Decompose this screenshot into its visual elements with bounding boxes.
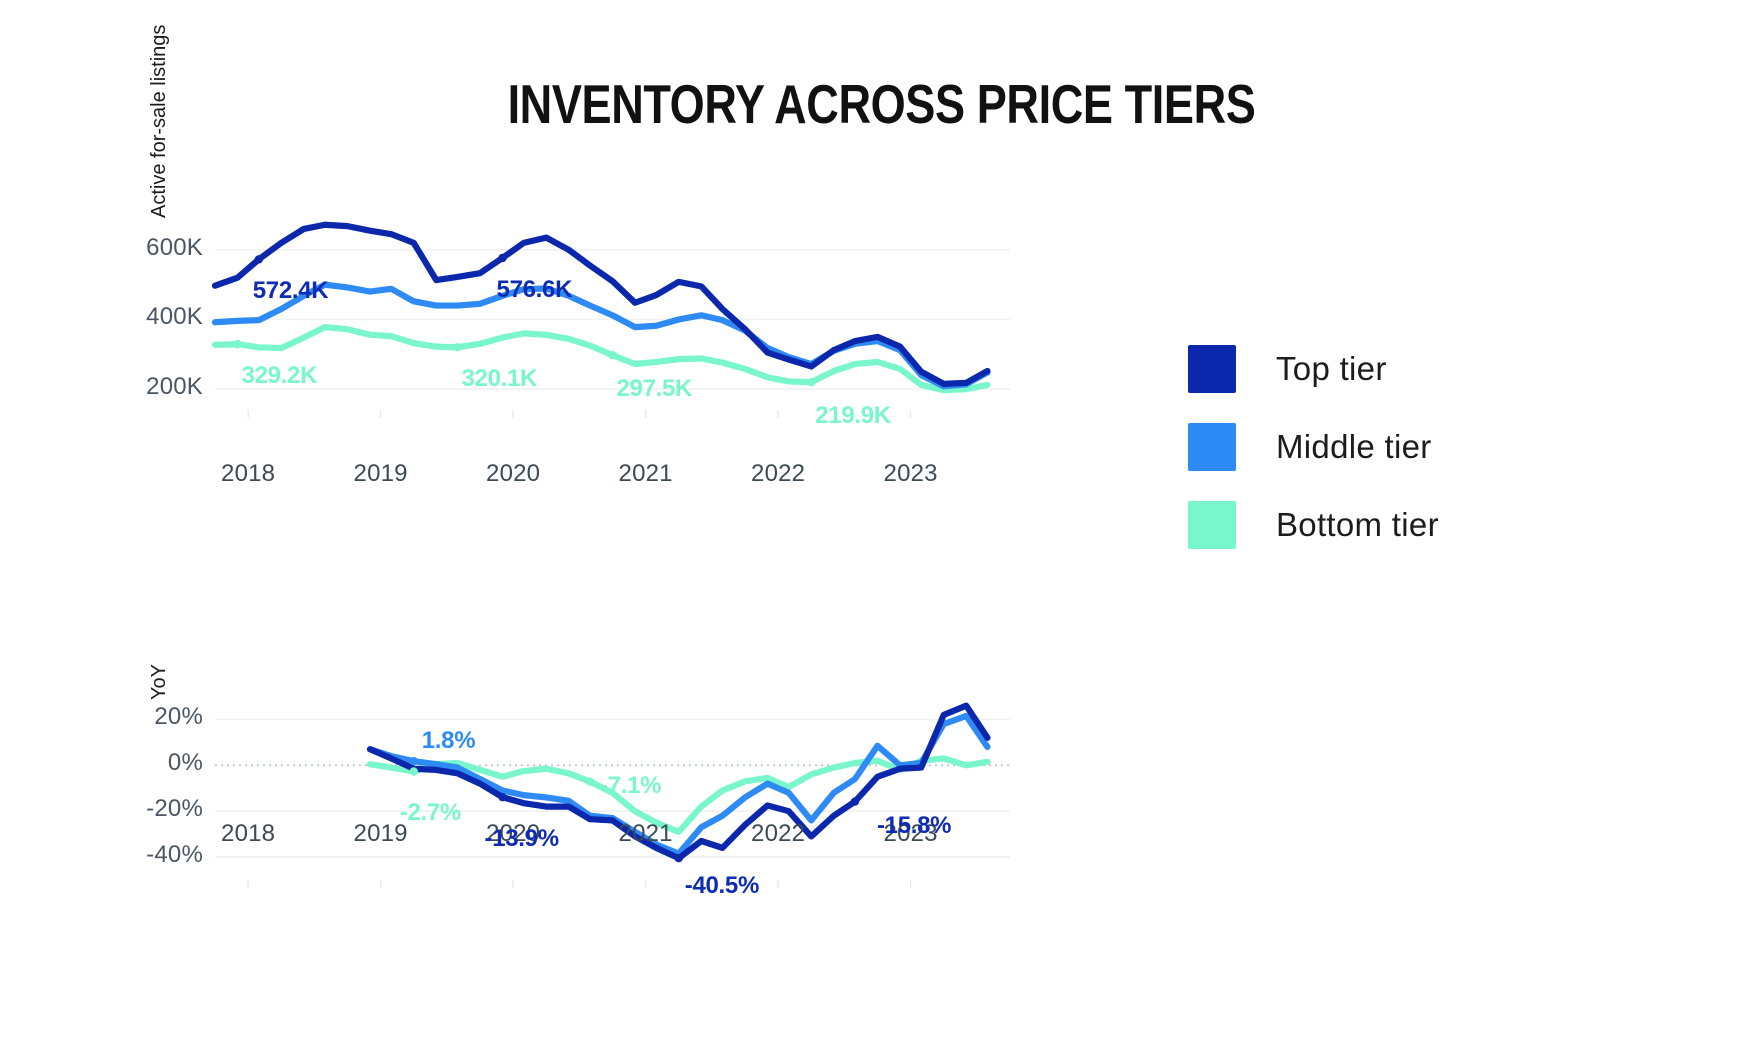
inventory-x-tick: 2020: [458, 460, 568, 488]
data-point-marker: [498, 254, 506, 262]
legend-swatch-bottom-tier: [1188, 501, 1236, 549]
legend: Top tier Middle tier Bottom tier: [1188, 330, 1439, 564]
yoy-y-tick: -20%: [115, 795, 203, 823]
legend-item-bottom-tier[interactable]: Bottom tier: [1188, 486, 1439, 564]
data-point-marker: [410, 757, 418, 765]
inventory-y-axis-label: Active for-sale listings: [148, 25, 171, 218]
yoy-y-tick: 0%: [115, 749, 203, 777]
data-label: 297.5K: [617, 375, 693, 403]
data-point-marker: [586, 777, 594, 785]
data-label: 572.4K: [253, 277, 329, 305]
yoy-y-tick: 20%: [115, 703, 203, 731]
data-point-marker: [255, 255, 263, 263]
legend-swatch-top-tier: [1188, 345, 1236, 393]
inventory-x-tick: 2021: [591, 460, 701, 488]
page-title: INVENTORY ACROSS PRICE TIERS: [159, 72, 1605, 136]
data-point-marker: [453, 343, 461, 351]
data-point-marker: [498, 793, 506, 801]
yoy-y-axis-label: YoY: [148, 664, 171, 700]
data-label: 219.9K: [815, 402, 891, 430]
data-point-marker: [675, 854, 683, 862]
inventory-y-tick: 600K: [115, 234, 203, 262]
legend-item-middle-tier[interactable]: Middle tier: [1188, 408, 1439, 486]
inventory-x-tick: 2018: [193, 460, 303, 488]
data-label: -15.8%: [877, 812, 951, 840]
legend-label-middle-tier: Middle tier: [1276, 428, 1432, 466]
data-point-marker: [233, 340, 241, 348]
inventory-x-tick: 2019: [326, 460, 436, 488]
data-point-marker: [851, 797, 859, 805]
legend-item-top-tier[interactable]: Top tier: [1188, 330, 1439, 408]
data-label: 576.6K: [497, 276, 573, 304]
data-label: -7.1%: [600, 772, 661, 800]
yoy-x-tick: 2022: [723, 820, 833, 848]
inventory-x-tick: 2023: [856, 460, 966, 488]
data-label: -13.9%: [485, 825, 559, 853]
data-label: 320.1K: [461, 365, 537, 393]
legend-label-bottom-tier: Bottom tier: [1276, 506, 1439, 544]
inventory-y-tick: 200K: [115, 373, 203, 401]
data-point-marker: [807, 378, 815, 386]
data-label: -40.5%: [685, 872, 759, 900]
data-point-marker: [410, 767, 418, 775]
data-label: -2.7%: [400, 799, 461, 827]
data-label: 329.2K: [242, 362, 318, 390]
inventory-y-tick: 400K: [115, 303, 203, 331]
data-label: 1.8%: [422, 727, 476, 755]
legend-swatch-middle-tier: [1188, 423, 1236, 471]
legend-label-top-tier: Top tier: [1276, 350, 1387, 388]
yoy-x-tick: 2018: [193, 820, 303, 848]
yoy-x-tick: 2021: [591, 820, 701, 848]
data-point-marker: [608, 351, 616, 359]
inventory-x-tick: 2022: [723, 460, 833, 488]
yoy-y-tick: -40%: [115, 841, 203, 869]
